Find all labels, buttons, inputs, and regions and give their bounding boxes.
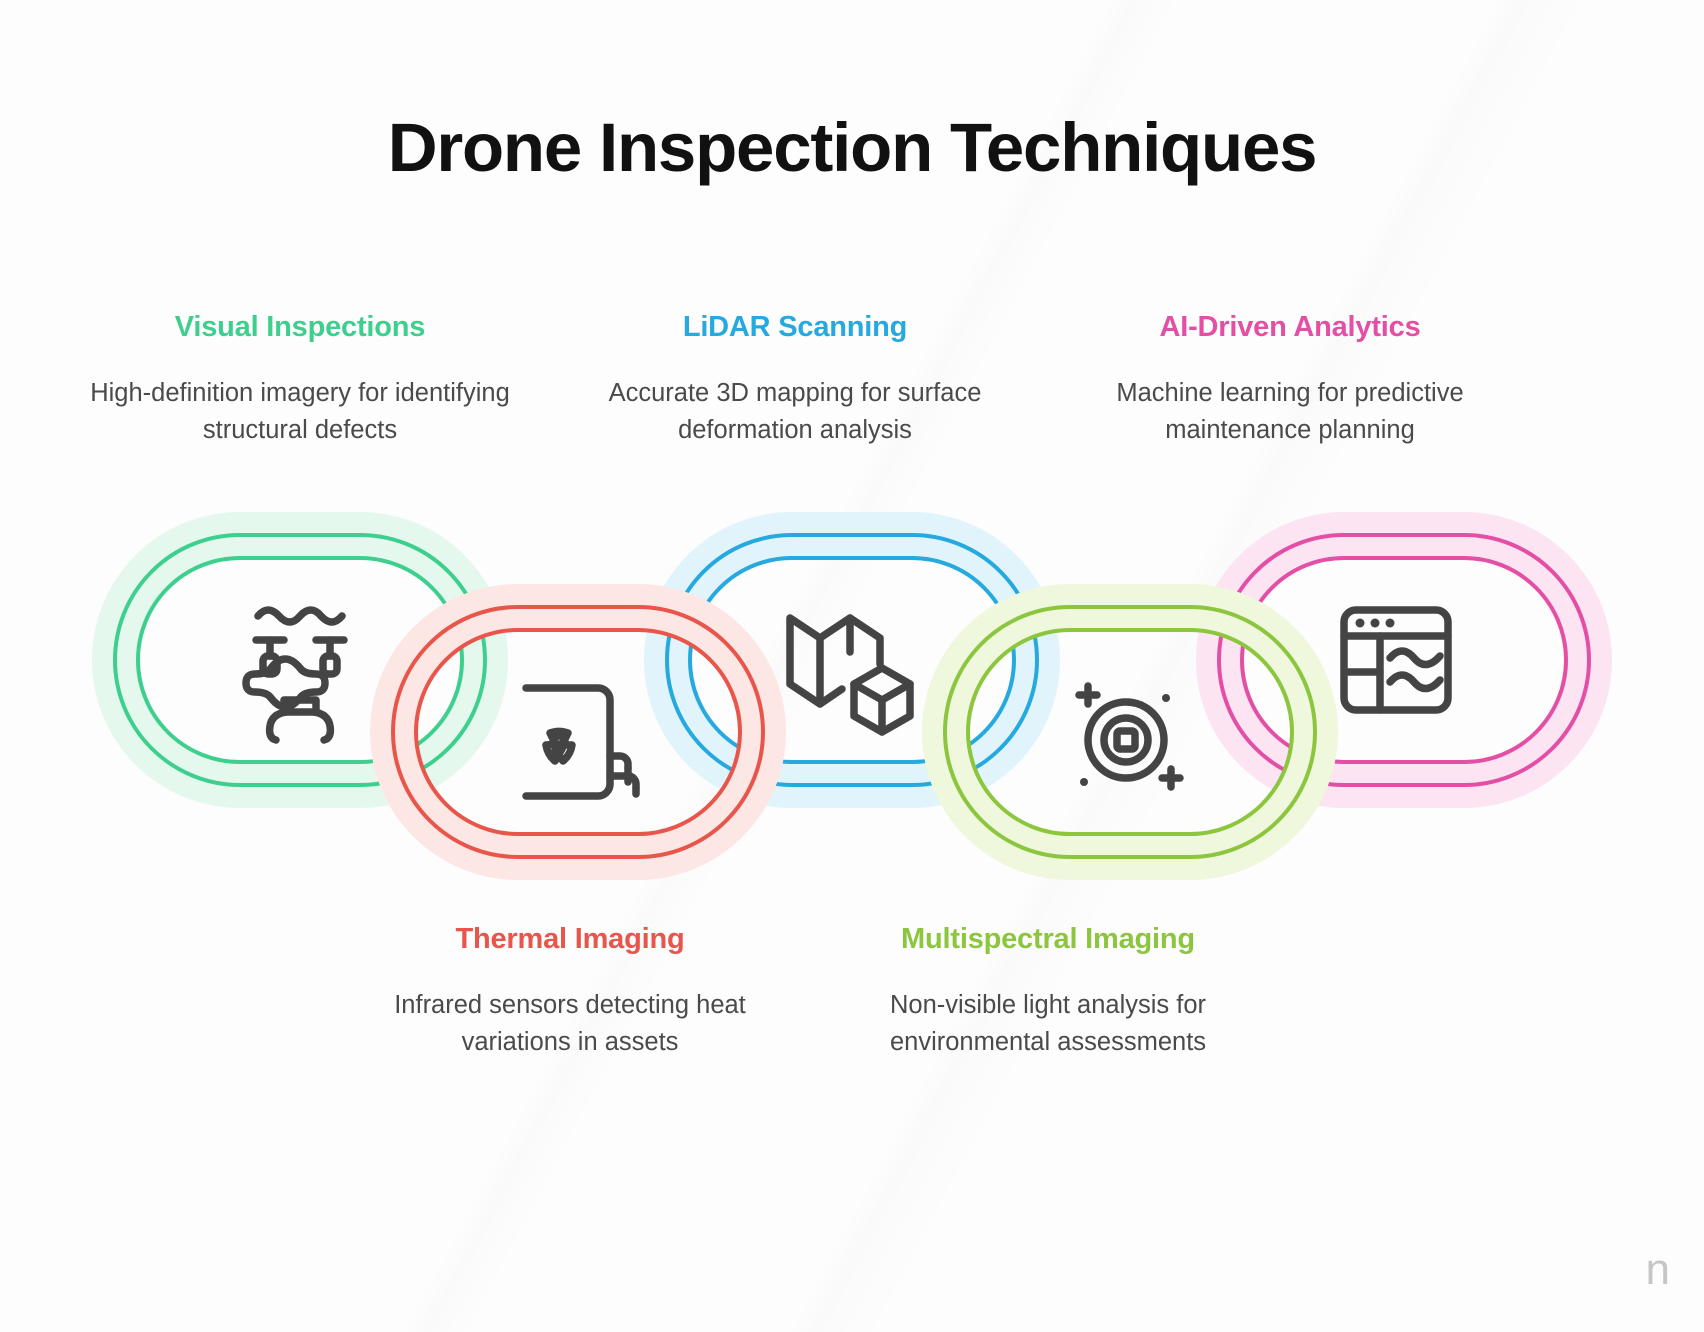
chain-diagram (0, 500, 1704, 900)
heading-visual-inspections: Visual Inspections (90, 310, 510, 345)
text-block-ai-driven-analytics: AI-Driven Analytics Machine learning for… (1080, 310, 1500, 448)
radiation-scanner-icon (526, 688, 636, 796)
drone-icon (246, 610, 344, 740)
dashboard-chart-icon (1344, 610, 1448, 710)
text-block-multispectral-imaging: Multispectral Imaging Non-visible light … (838, 922, 1258, 1060)
heading-lidar-scanning: LiDAR Scanning (585, 310, 1005, 345)
heading-multispectral-imaging: Multispectral Imaging (838, 922, 1258, 957)
description-multispectral-imaging: Non-visible light analysis for environme… (838, 987, 1258, 1060)
map-cube-icon (790, 618, 910, 732)
description-ai-driven-analytics: Machine learning for predictive maintena… (1080, 375, 1500, 448)
heading-thermal-imaging: Thermal Imaging (360, 922, 780, 957)
heading-ai-driven-analytics: AI-Driven Analytics (1080, 310, 1500, 345)
spectral-target-icon (1079, 686, 1180, 787)
description-thermal-imaging: Infrared sensors detecting heat variatio… (360, 987, 780, 1060)
description-visual-inspections: High-definition imagery for identifying … (90, 375, 510, 448)
infographic-page: Drone Inspection Techniques Visual Inspe… (0, 0, 1704, 1332)
watermark: n (1646, 1248, 1670, 1292)
text-block-thermal-imaging: Thermal Imaging Infrared sensors detecti… (360, 922, 780, 1060)
page-title: Drone Inspection Techniques (0, 108, 1704, 187)
description-lidar-scanning: Accurate 3D mapping for surface deformat… (585, 375, 1005, 448)
text-block-visual-inspections: Visual Inspections High-definition image… (90, 310, 510, 448)
text-block-lidar-scanning: LiDAR Scanning Accurate 3D mapping for s… (585, 310, 1005, 448)
